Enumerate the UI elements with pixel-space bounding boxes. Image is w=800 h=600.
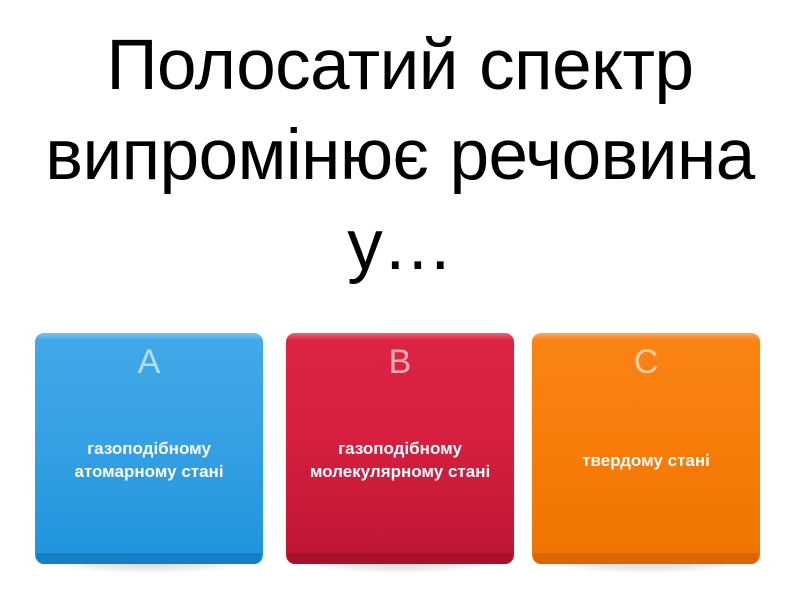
question-area: Полосатий спектр випромінює речовина у… (0, 0, 800, 312)
answer-label-c: твердому стані (532, 382, 760, 564)
card-top-gloss (286, 333, 514, 340)
answer-label-b: газоподібному молекулярному стані (286, 382, 514, 564)
card-top-gloss (532, 333, 760, 340)
answer-card-a[interactable]: A газоподібному атомарному стані (35, 333, 263, 564)
question-text: Полосатий спектр випромінює речовина у… (30, 21, 770, 291)
answer-letter-badge-b: B (389, 342, 412, 382)
answer-label-a: газоподібному атомарному стані (35, 382, 263, 564)
answer-card-b[interactable]: B газоподібному молекулярному стані (286, 333, 514, 564)
answer-card-c-body[interactable]: C твердому стані (532, 333, 760, 564)
answer-options-area: A газоподібному атомарному стані B газоп… (0, 312, 800, 600)
answer-letter-badge-c: C (634, 342, 659, 382)
answer-letter-badge-a: A (138, 342, 161, 382)
card-top-gloss (35, 333, 263, 340)
answer-card-c[interactable]: C твердому стані (532, 333, 760, 564)
answer-card-b-body[interactable]: B газоподібному молекулярному стані (286, 333, 514, 564)
answer-card-a-body[interactable]: A газоподібному атомарному стані (35, 333, 263, 564)
